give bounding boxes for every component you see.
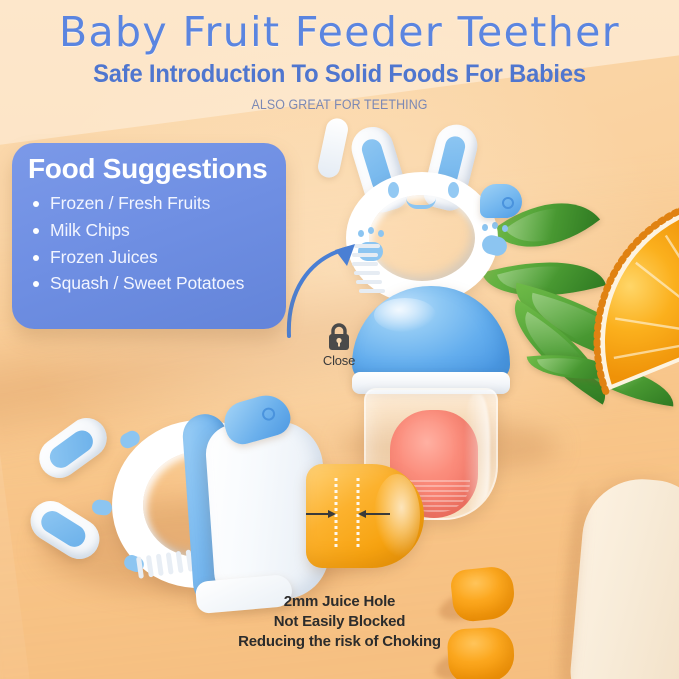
list-item: Milk Chips <box>28 217 270 244</box>
food-suggestions-list: Frozen / Fresh Fruits Milk Chips Frozen … <box>28 190 270 297</box>
page-subtitle: Safe Introduction To Solid Foods For Bab… <box>17 60 662 89</box>
bunny-eye-right <box>448 182 459 198</box>
caption-line-2: Not Easily Blocked <box>0 612 679 632</box>
list-item: Squash / Sweet Potatoes <box>28 270 270 297</box>
page-eyebrow: ALSO GREAT FOR TEETHING <box>27 97 652 112</box>
close-lock-callout: Close <box>310 322 368 368</box>
paw-print-icon <box>91 499 113 517</box>
caption-line-3: Reducing the risk of Choking <box>0 632 679 652</box>
list-item: Frozen / Fresh Fruits <box>28 190 270 217</box>
food-suggestions-panel: Food Suggestions Frozen / Fresh Fruits M… <box>12 143 286 329</box>
product-scene: Close <box>0 0 679 679</box>
juice-hole-measurement-annotation <box>306 478 406 550</box>
list-item: Frozen Juices <box>28 244 270 271</box>
lock-closed-icon <box>325 322 353 352</box>
page-title: Baby Fruit Feeder Teether <box>0 8 679 56</box>
bunny-ear-upper <box>31 410 114 486</box>
caption-line-1: 2mm Juice Hole <box>0 592 679 612</box>
bunny-eye-left <box>388 182 399 198</box>
juice-hole-caption: 2mm Juice Hole Not Easily Blocked Reduci… <box>0 592 679 652</box>
cap-release-tab-right <box>480 184 522 218</box>
food-suggestions-title: Food Suggestions <box>28 152 270 185</box>
lock-callout-label: Close <box>310 353 368 368</box>
